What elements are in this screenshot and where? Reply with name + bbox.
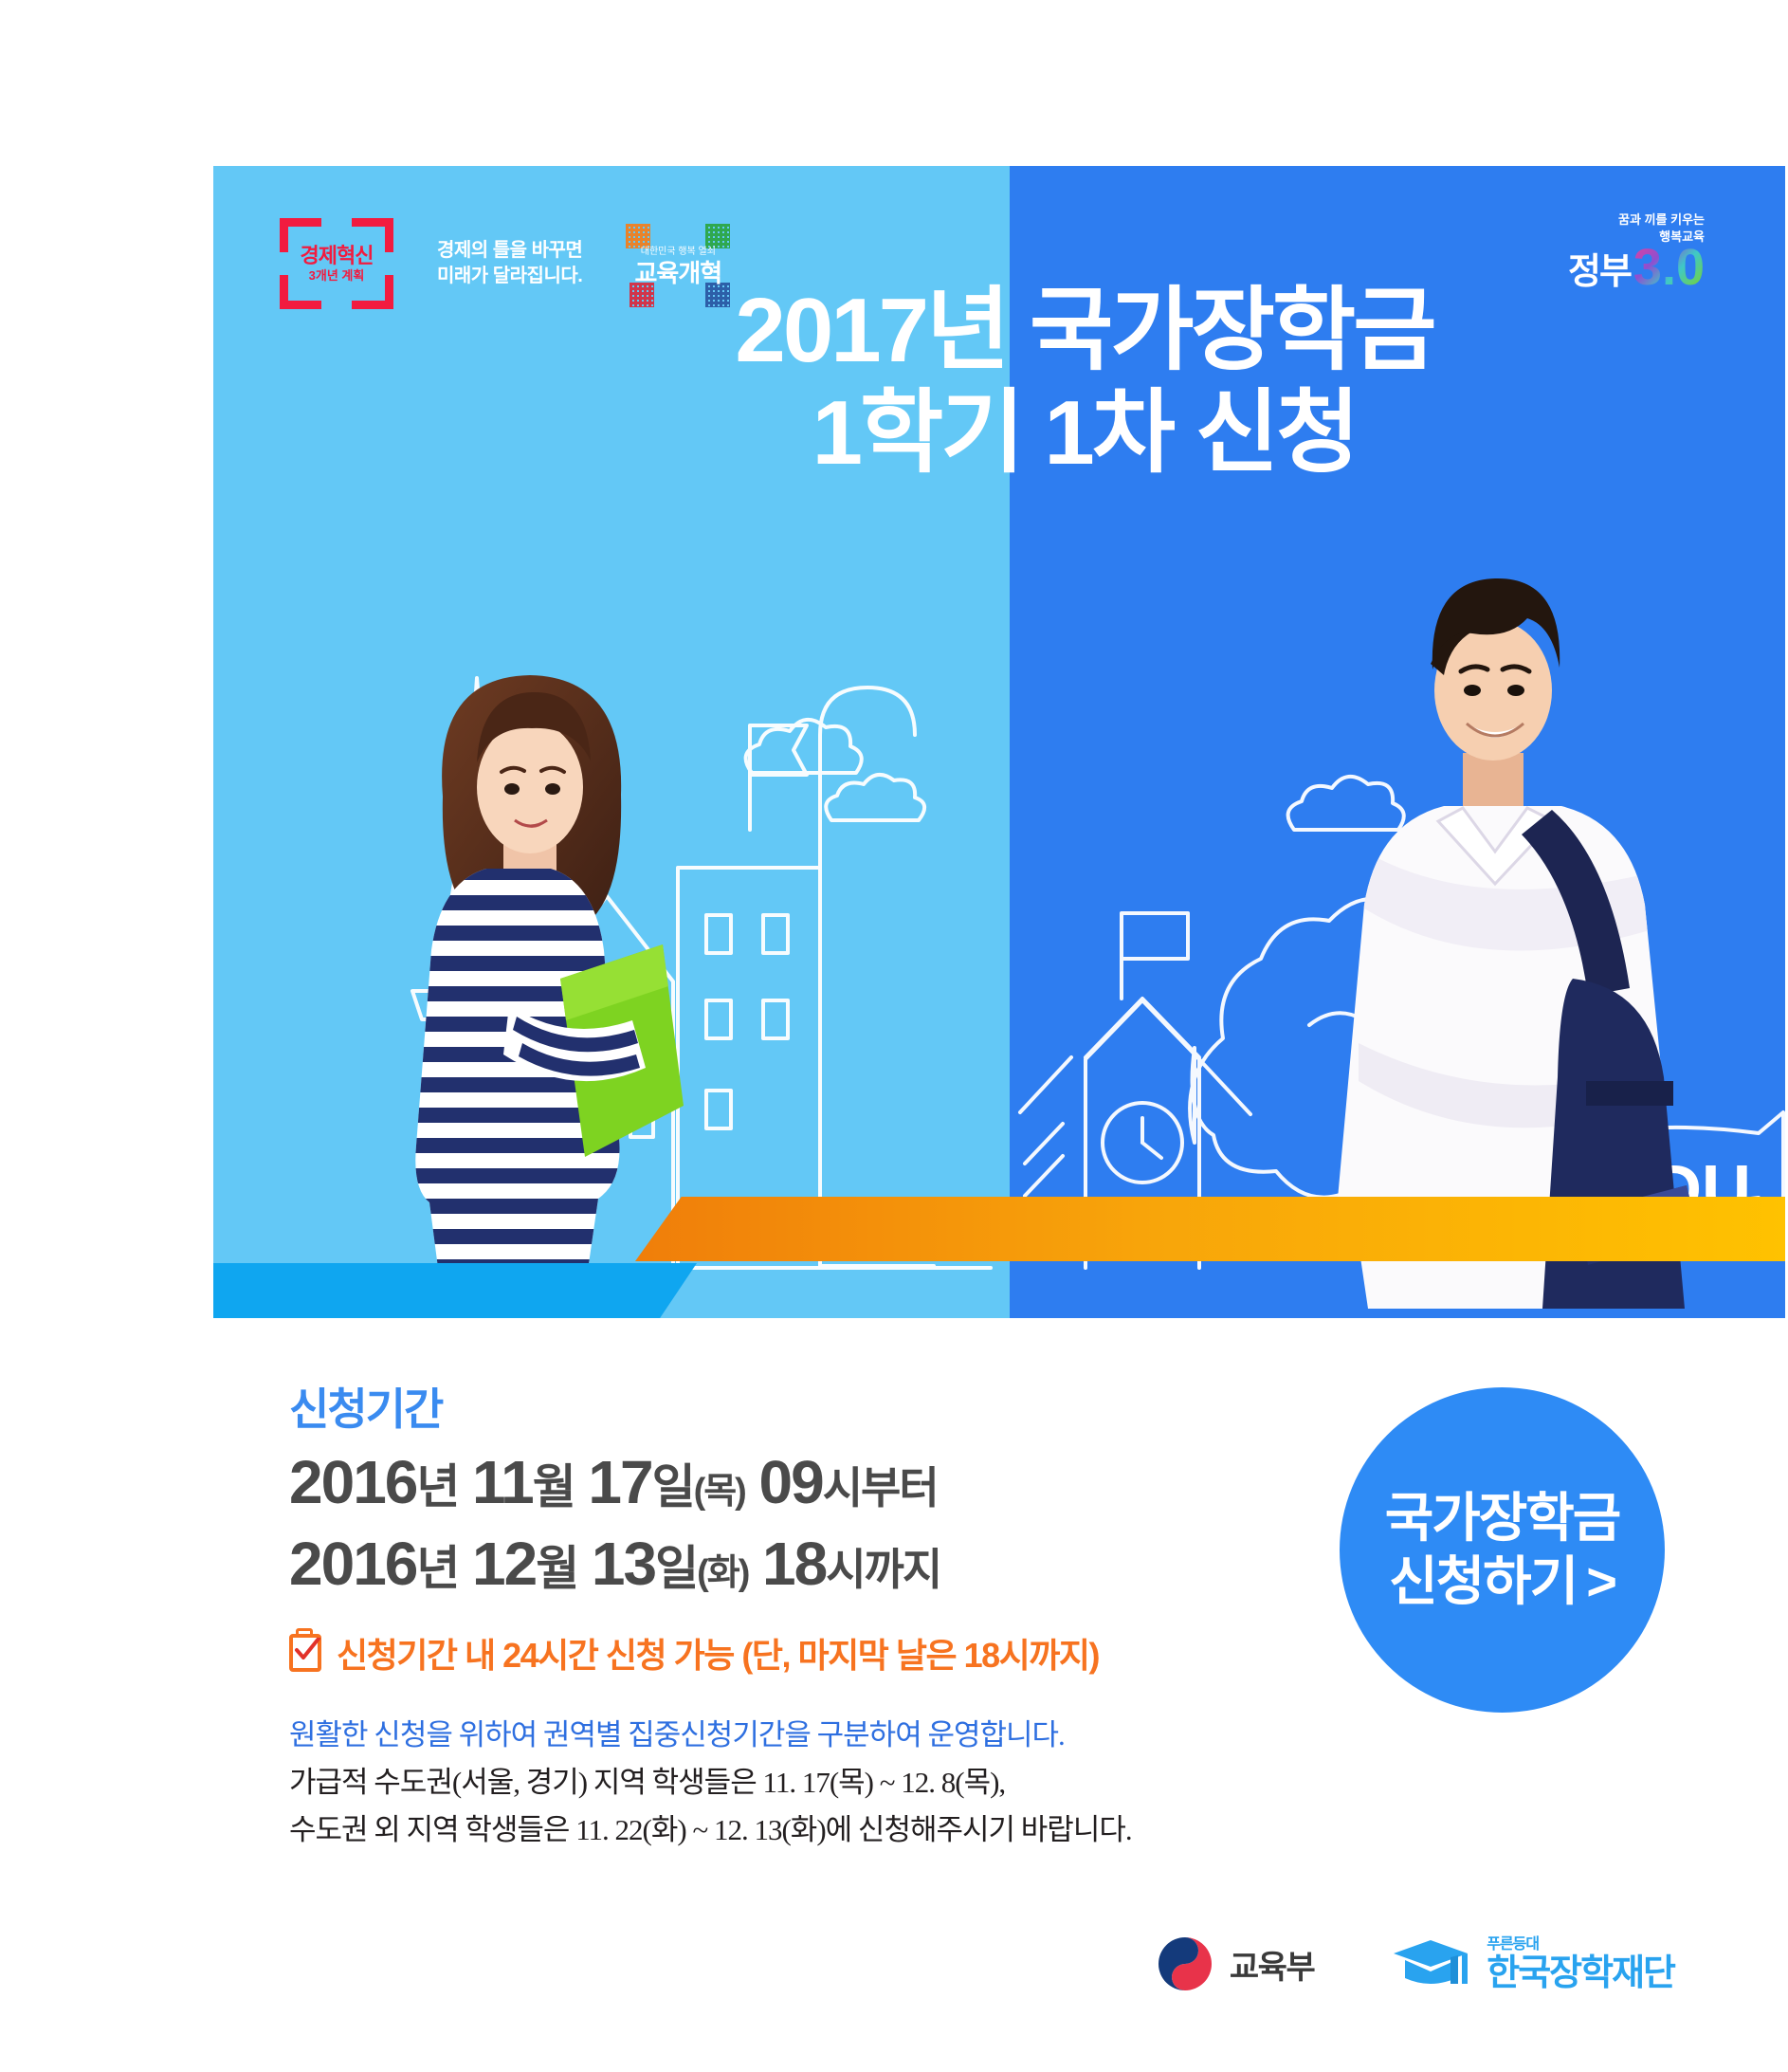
availability-note-text: 신청기간 내 24시간 신청 가능 (단, 마지막 날은 18시까지) xyxy=(337,1628,1099,1678)
availability-note: 신청기간 내 24시간 신청 가능 (단, 마지막 날은 18시까지) xyxy=(289,1628,1294,1678)
kosaf-text: 푸른등대 한국장학재단 xyxy=(1487,1937,1674,1991)
kosaf-logo: 푸른등대 한국장학재단 xyxy=(1390,1936,1674,1991)
economy-reform-tagline: 경제의 틀을 바꾸면 미래가 달라집니다. xyxy=(437,238,582,289)
start-dow: (목) xyxy=(694,1472,745,1512)
end-month-unit: 월 xyxy=(536,1542,577,1595)
banner-accent-bar-blue xyxy=(213,1263,697,1318)
start-suffix: 시부터 xyxy=(823,1463,938,1513)
apply-scholarship-button[interactable]: 국가장학금 신청하기 > xyxy=(1340,1387,1665,1713)
ministry-of-education-logo: 교육부 xyxy=(1156,1934,1314,1993)
application-info-section: 신청기간 2016년 11월 17일(목) 09시부터 2016년 12월 13… xyxy=(289,1375,1294,1855)
end-suffix: 시까지 xyxy=(826,1545,940,1594)
economy-reform-subtitle: 3개년 계획 xyxy=(309,269,365,282)
tagline-line-2: 미래가 달라집니다. xyxy=(437,264,582,289)
taegeuk-icon xyxy=(1156,1934,1214,1993)
checklist-check-icon xyxy=(289,1634,321,1672)
clipboard-clip-shape xyxy=(296,1628,313,1637)
check-mark-shape xyxy=(294,1638,320,1662)
headline-line-2: 1학기 1차 신청 xyxy=(384,382,1785,485)
economy-reform-title: 경제혁신 xyxy=(301,246,374,266)
start-hour: 09 xyxy=(759,1448,823,1516)
application-period-title: 신청기간 xyxy=(289,1375,1294,1438)
gov30-version: 3.0 xyxy=(1633,247,1705,290)
kosaf-slogan: 푸른등대 xyxy=(1487,1937,1674,1953)
ministry-of-education-name: 교육부 xyxy=(1230,1941,1314,1988)
headline-line-1: 2017년 국가장학금 xyxy=(735,280,1433,381)
student-woman-photo xyxy=(374,645,687,1299)
cta-line-2: 신청하기 > xyxy=(1389,1550,1615,1613)
education-reform-logo: 대한민국 행복 열쇠 교육개혁 xyxy=(626,220,730,307)
application-end-date: 2016년 12월 13일(화) 18시까지 xyxy=(289,1529,1294,1601)
start-year: 2016 xyxy=(289,1448,416,1516)
end-day: 13 xyxy=(592,1530,655,1598)
gov30-small-line-1: 꿈과 끼를 키우는 xyxy=(1568,211,1705,229)
regional-guidance-paragraph: 원활한 신청을 위하여 권역별 집중신청기간을 구분하여 운영합니다. 가급적 … xyxy=(289,1712,1294,1855)
cta-line-1: 국가장학금 xyxy=(1385,1487,1620,1549)
banner-logo-row: 경제혁신 3개년 계획 경제의 틀을 바꾸면 미래가 달라집니다. 대한민국 행… xyxy=(280,218,730,309)
start-day-unit: 일 xyxy=(652,1460,694,1513)
tagline-line-1: 경제의 틀을 바꾸면 xyxy=(437,238,582,264)
paragraph-line-3: 수도권 외 지역 학생들은 11. 22(화) ~ 12. 13(화)에 신청해… xyxy=(289,1806,1294,1854)
gov30-main: 정부 3.0 xyxy=(1568,247,1705,290)
education-reform-big: 교육개혁 xyxy=(634,254,721,289)
end-dow: (화) xyxy=(697,1553,748,1593)
chevron-right-icon: > xyxy=(1586,1550,1615,1613)
application-start-date: 2016년 11월 17일(목) 09시부터 xyxy=(289,1447,1294,1519)
paragraph-line-2: 가급적 수도권(서울, 경기) 지역 학생들은 11. 17(목) ~ 12. … xyxy=(289,1759,1294,1806)
start-month: 11 xyxy=(472,1448,533,1516)
footer-logos: 교육부 푸른등대 한국장학재단 xyxy=(1156,1934,1674,1993)
paragraph-line-1: 원활한 신청을 위하여 권역별 집중신청기간을 구분하여 운영합니다. xyxy=(289,1712,1294,1759)
student-man-photo xyxy=(1302,550,1700,1309)
banner-accent-bar-orange xyxy=(635,1197,1785,1261)
end-month: 12 xyxy=(472,1530,536,1598)
banner-headline: 2017년 국가장학금 1학기 1차 신청 xyxy=(213,280,1785,484)
start-day: 17 xyxy=(588,1448,651,1516)
end-year-unit: 년 xyxy=(416,1542,458,1595)
economy-reform-text: 경제혁신 3개년 계획 xyxy=(280,218,393,309)
economy-reform-logo: 경제혁신 3개년 계획 xyxy=(280,218,393,309)
end-hour: 18 xyxy=(762,1530,826,1598)
cta-line-2-label: 신청하기 xyxy=(1389,1550,1577,1613)
hero-banner: EDU 경제혁신 3개년 계획 경제의 틀을 바꾸면 미래가 달라집니다. xyxy=(213,166,1785,1318)
end-year: 2016 xyxy=(289,1530,416,1598)
end-day-unit: 일 xyxy=(655,1542,697,1595)
gov30-word: 정부 xyxy=(1568,254,1631,290)
graduation-cap-icon xyxy=(1390,1936,1471,1991)
government-30-logo: 꿈과 끼를 키우는 행복교육 정부 3.0 xyxy=(1568,211,1705,290)
kosaf-name: 한국장학재단 xyxy=(1487,1955,1674,1991)
start-month-unit: 월 xyxy=(533,1460,575,1513)
poster-root: EDU 경제혁신 3개년 계획 경제의 틀을 바꾸면 미래가 달라집니다. xyxy=(0,0,1788,2072)
start-year-unit: 년 xyxy=(416,1460,458,1513)
